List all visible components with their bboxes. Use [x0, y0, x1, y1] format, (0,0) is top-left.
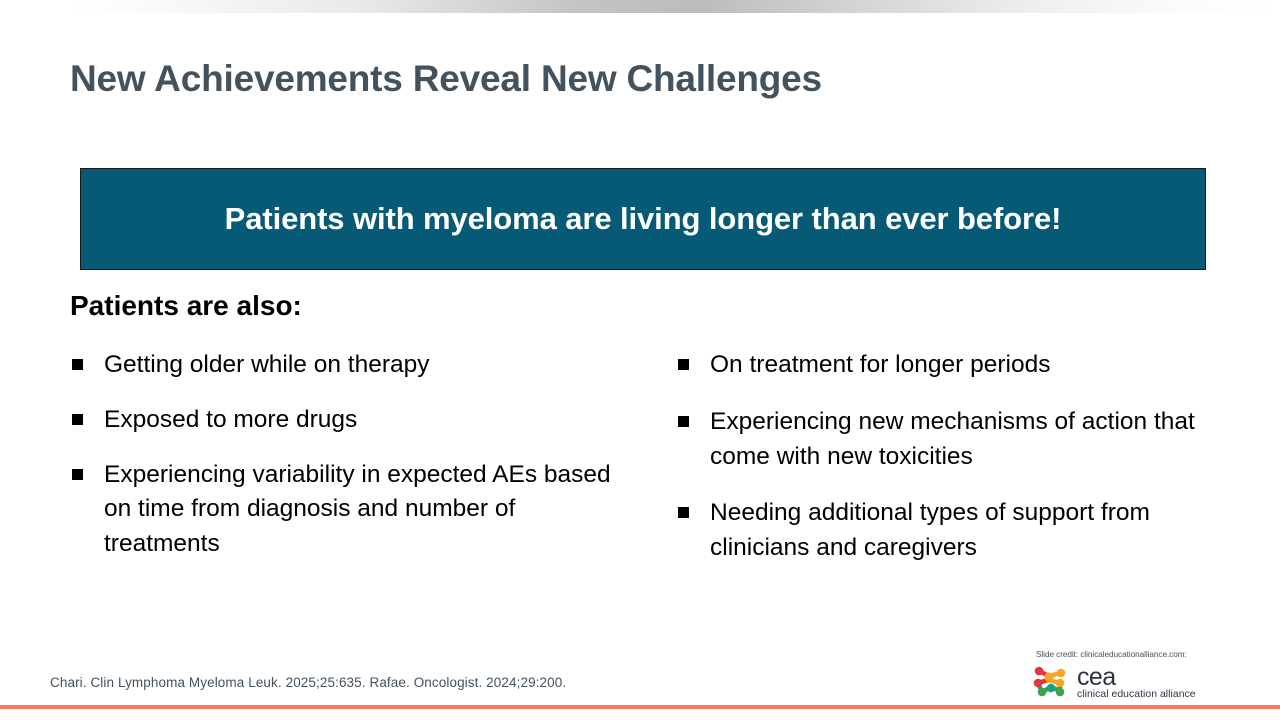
list-item: Getting older while on therapy: [72, 348, 632, 383]
page-title: New Achievements Reveal New Challenges: [70, 58, 1170, 101]
list-item: Exposed to more drugs: [72, 403, 632, 438]
bullet-column-left: Getting older while on therapy Exposed t…: [72, 348, 632, 582]
cea-logo-word: cea: [1077, 663, 1116, 691]
cea-molecule-logo-icon: [1030, 662, 1072, 705]
list-item: Experiencing variability in expected AEs…: [72, 458, 632, 562]
square-bullet-icon: [678, 507, 689, 518]
callout-banner: Patients with myeloma are living longer …: [80, 168, 1206, 270]
top-decorative-gradient-bar: [70, 0, 1280, 13]
subhead-label: Patients are also:: [70, 290, 302, 322]
bottom-accent-rule: [0, 705, 1280, 709]
cea-logo-type: cea clinical education alliance: [1077, 666, 1196, 700]
callout-banner-text: Patients with myeloma are living longer …: [225, 201, 1062, 237]
cea-logo-tagline: clinical education alliance: [1077, 690, 1196, 700]
list-item-label: Experiencing new mechanisms of action th…: [710, 405, 1223, 475]
list-item-label: Experiencing variability in expected AEs…: [104, 458, 632, 562]
list-item-label: Getting older while on therapy: [104, 348, 430, 383]
slide-credit-label: Slide credit: clinicaleducationalliance.…: [1030, 650, 1226, 659]
list-item: Needing additional types of support from…: [678, 496, 1223, 566]
list-item: Experiencing new mechanisms of action th…: [678, 405, 1223, 475]
slide-credit-block: Slide credit: clinicaleducationalliance.…: [1030, 650, 1226, 705]
bullet-column-right: On treatment for longer periods Experien…: [678, 348, 1223, 588]
cea-logo: cea clinical education alliance: [1030, 662, 1226, 705]
list-item-label: On treatment for longer periods: [710, 348, 1050, 383]
list-item: On treatment for longer periods: [678, 348, 1223, 383]
square-bullet-icon: [72, 359, 83, 370]
square-bullet-icon: [678, 359, 689, 370]
list-item-label: Exposed to more drugs: [104, 403, 357, 438]
list-item-label: Needing additional types of support from…: [710, 496, 1223, 566]
square-bullet-icon: [678, 416, 689, 427]
square-bullet-icon: [72, 469, 83, 480]
citation-text: Chari. Clin Lymphoma Myeloma Leuk. 2025;…: [50, 675, 566, 690]
square-bullet-icon: [72, 414, 83, 425]
